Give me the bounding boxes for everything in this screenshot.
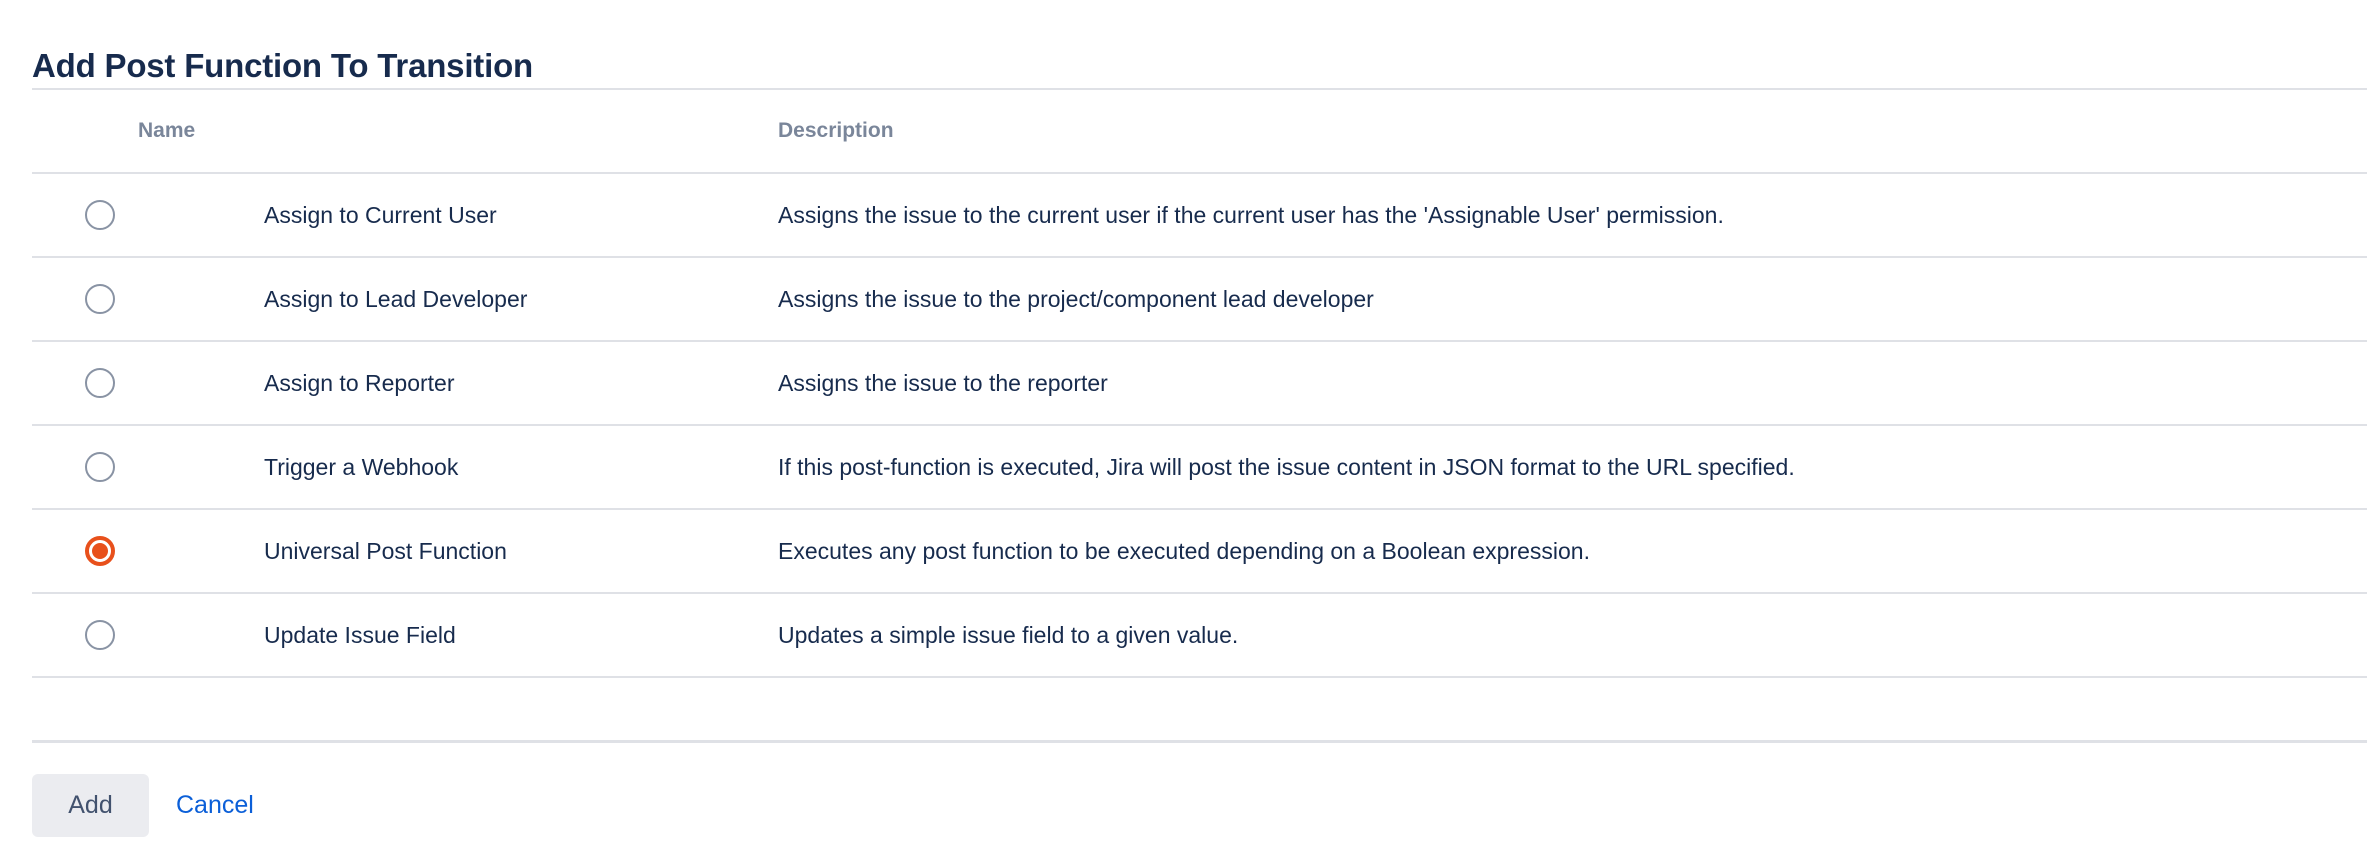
row-name: Update Issue Field bbox=[138, 593, 778, 677]
table-row[interactable]: Assign to ReporterAssigns the issue to t… bbox=[32, 341, 2367, 425]
radio-button[interactable] bbox=[85, 284, 115, 314]
table-body: Assign to Current UserAssigns the issue … bbox=[32, 173, 2367, 677]
table-row[interactable]: Universal Post FunctionExecutes any post… bbox=[32, 509, 2367, 593]
table-footer-divider bbox=[32, 740, 2367, 743]
row-select-cell[interactable] bbox=[32, 425, 138, 509]
row-name: Trigger a Webhook bbox=[138, 425, 778, 509]
table-header-row: Name Description bbox=[32, 89, 2367, 173]
table-row[interactable]: Trigger a WebhookIf this post-function i… bbox=[32, 425, 2367, 509]
column-header-description: Description bbox=[778, 89, 2367, 173]
column-header-name: Name bbox=[138, 89, 778, 173]
radio-button[interactable] bbox=[85, 200, 115, 230]
page-title: Add Post Function To Transition bbox=[32, 46, 533, 86]
row-description: If this post-function is executed, Jira … bbox=[778, 425, 2367, 509]
row-description: Executes any post function to be execute… bbox=[778, 509, 2367, 593]
table-row[interactable]: Assign to Current UserAssigns the issue … bbox=[32, 173, 2367, 257]
add-button[interactable]: Add bbox=[32, 774, 149, 837]
row-select-cell[interactable] bbox=[32, 341, 138, 425]
row-select-cell[interactable] bbox=[32, 257, 138, 341]
radio-button[interactable] bbox=[85, 452, 115, 482]
column-header-select bbox=[32, 89, 138, 173]
row-description: Assigns the issue to the project/compone… bbox=[778, 257, 2367, 341]
row-description: Assigns the issue to the current user if… bbox=[778, 173, 2367, 257]
row-description: Assigns the issue to the reporter bbox=[778, 341, 2367, 425]
form-actions: Add Cancel bbox=[32, 774, 254, 837]
radio-button[interactable] bbox=[85, 368, 115, 398]
row-select-cell[interactable] bbox=[32, 173, 138, 257]
cancel-link[interactable]: Cancel bbox=[176, 774, 254, 837]
row-name: Assign to Reporter bbox=[138, 341, 778, 425]
row-select-cell[interactable] bbox=[32, 593, 138, 677]
post-function-table: Name Description Assign to Current UserA… bbox=[32, 88, 2367, 678]
radio-button[interactable] bbox=[85, 620, 115, 650]
row-name: Assign to Lead Developer bbox=[138, 257, 778, 341]
radio-button-selected[interactable] bbox=[85, 536, 115, 566]
table-row[interactable]: Update Issue FieldUpdates a simple issue… bbox=[32, 593, 2367, 677]
table-row[interactable]: Assign to Lead DeveloperAssigns the issu… bbox=[32, 257, 2367, 341]
row-name: Assign to Current User bbox=[138, 173, 778, 257]
row-name: Universal Post Function bbox=[138, 509, 778, 593]
row-select-cell[interactable] bbox=[32, 509, 138, 593]
table-header: Name Description bbox=[32, 89, 2367, 173]
row-description: Updates a simple issue field to a given … bbox=[778, 593, 2367, 677]
add-post-function-page: Add Post Function To Transition Name Des… bbox=[0, 0, 2370, 857]
